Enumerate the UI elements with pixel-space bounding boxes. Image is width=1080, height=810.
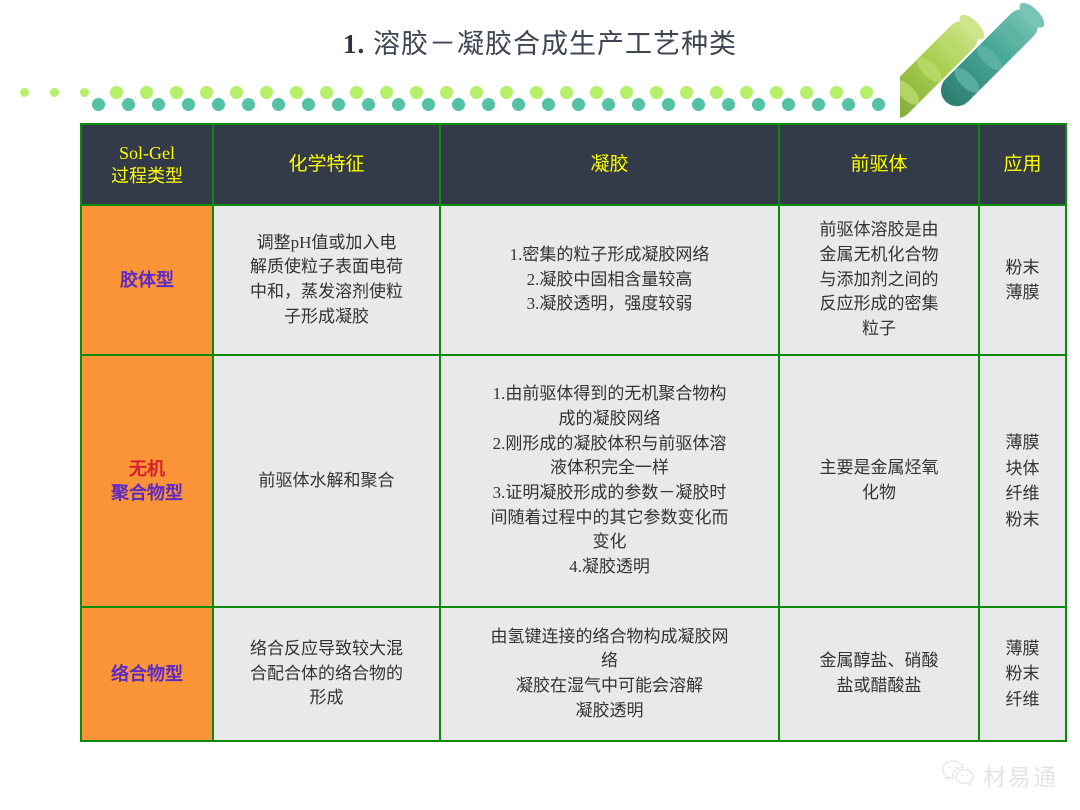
- decorative-dot: [722, 98, 735, 111]
- title-number: 1.: [343, 29, 365, 59]
- wechat-icon: [941, 759, 975, 792]
- decorative-dot: [272, 98, 285, 111]
- table-row: 胶体型 调整pH值或加入电 解质使粒子表面电荷 中和，蒸发溶剂使粒 子形成凝胶 …: [81, 205, 1066, 355]
- decorative-dot: [662, 98, 675, 111]
- watermark: 材易通: [941, 758, 1058, 792]
- decorative-dot: [692, 98, 705, 111]
- decorative-dot: [242, 98, 255, 111]
- decorative-dot: [302, 98, 315, 111]
- cell-application: 薄膜 粉末 纤维: [979, 607, 1066, 741]
- cell-process-type: 胶体型: [81, 205, 213, 355]
- decorative-dot: [572, 98, 585, 111]
- decorative-dot-band-teal: [92, 98, 902, 111]
- decorative-dot: [362, 98, 375, 111]
- column-header-chemistry: 化学特征: [213, 124, 440, 205]
- cell-process-type: 无机 聚合物型: [81, 355, 213, 607]
- decorative-dot: [812, 98, 825, 111]
- sol-gel-process-table: Sol-Gel 过程类型 化学特征 凝胶 前驱体 应用 胶体型 调整pH值或加入…: [80, 123, 1067, 742]
- decorative-dot: [20, 88, 29, 97]
- decorative-dot: [392, 98, 405, 111]
- cell-gel: 1.由前驱体得到的无机聚合物构 成的凝胶网络 2.刚形成的凝胶体积与前驱体溶 液…: [440, 355, 779, 607]
- decorative-dot: [512, 98, 525, 111]
- column-header-process-type-line1: Sol-Gel: [87, 142, 207, 165]
- decorative-dot: [452, 98, 465, 111]
- cell-application: 薄膜 块体 纤维 粉末: [979, 355, 1066, 607]
- decorative-dot: [542, 98, 555, 111]
- watermark-text: 材易通: [983, 758, 1058, 792]
- decorative-dot: [80, 88, 89, 97]
- cell-gel: 1.密集的粒子形成凝胶网络 2.凝胶中固相含量较高 3.凝胶透明，强度较弱: [440, 205, 779, 355]
- column-header-process-type-line2: 过程类型: [87, 165, 207, 188]
- column-header-process-type: Sol-Gel 过程类型: [81, 124, 213, 205]
- table-row: 无机 聚合物型 前驱体水解和聚合 1.由前驱体得到的无机聚合物构 成的凝胶网络 …: [81, 355, 1066, 607]
- cell-chemistry: 前驱体水解和聚合: [213, 355, 440, 607]
- cell-chemistry: 络合反应导致较大混 合配合体的络合物的 形成: [213, 607, 440, 741]
- column-header-precursor: 前驱体: [779, 124, 979, 205]
- page-title: 1. 溶胶－凝胶合成生产工艺种类: [0, 22, 1080, 61]
- cell-precursor: 金属醇盐、硝酸 盐或醋酸盐: [779, 607, 979, 741]
- cell-precursor: 主要是金属烃氧 化物: [779, 355, 979, 607]
- decorative-dot: [182, 98, 195, 111]
- decorative-dot: [752, 98, 765, 111]
- cell-process-type: 络合物型: [81, 607, 213, 741]
- decorative-dot: [50, 88, 59, 97]
- process-type-label-line1: 无机: [87, 457, 207, 481]
- table-header-row: Sol-Gel 过程类型 化学特征 凝胶 前驱体 应用: [81, 124, 1066, 205]
- decorative-dot: [212, 98, 225, 111]
- decorative-dot: [872, 98, 885, 111]
- decorative-dot: [602, 98, 615, 111]
- decorative-dot: [842, 98, 855, 111]
- decorative-dot: [152, 98, 165, 111]
- process-type-label-line1: 络合物型: [87, 662, 207, 686]
- cell-precursor: 前驱体溶胶是由 金属无机化合物 与添加剂之间的 反应形成的密集 粒子: [779, 205, 979, 355]
- title-text: 溶胶－凝胶合成生产工艺种类: [373, 29, 737, 59]
- decorative-dot: [422, 98, 435, 111]
- decorative-dot: [92, 98, 105, 111]
- column-header-application: 应用: [979, 124, 1066, 205]
- process-type-label-line2: 聚合物型: [87, 481, 207, 505]
- decorative-dot: [782, 98, 795, 111]
- column-header-gel: 凝胶: [440, 124, 779, 205]
- cell-application: 粉末 薄膜: [979, 205, 1066, 355]
- process-type-label-line1: 胶体型: [87, 268, 207, 292]
- decorative-dot: [632, 98, 645, 111]
- table-row: 络合物型 络合反应导致较大混 合配合体的络合物的 形成 由氢键连接的络合物构成凝…: [81, 607, 1066, 741]
- decorative-dot: [482, 98, 495, 111]
- cell-gel: 由氢键连接的络合物构成凝胶网 络 凝胶在湿气中可能会溶解 凝胶透明: [440, 607, 779, 741]
- decorative-dot: [332, 98, 345, 111]
- cell-chemistry: 调整pH值或加入电 解质使粒子表面电荷 中和，蒸发溶剂使粒 子形成凝胶: [213, 205, 440, 355]
- decorative-dot: [122, 98, 135, 111]
